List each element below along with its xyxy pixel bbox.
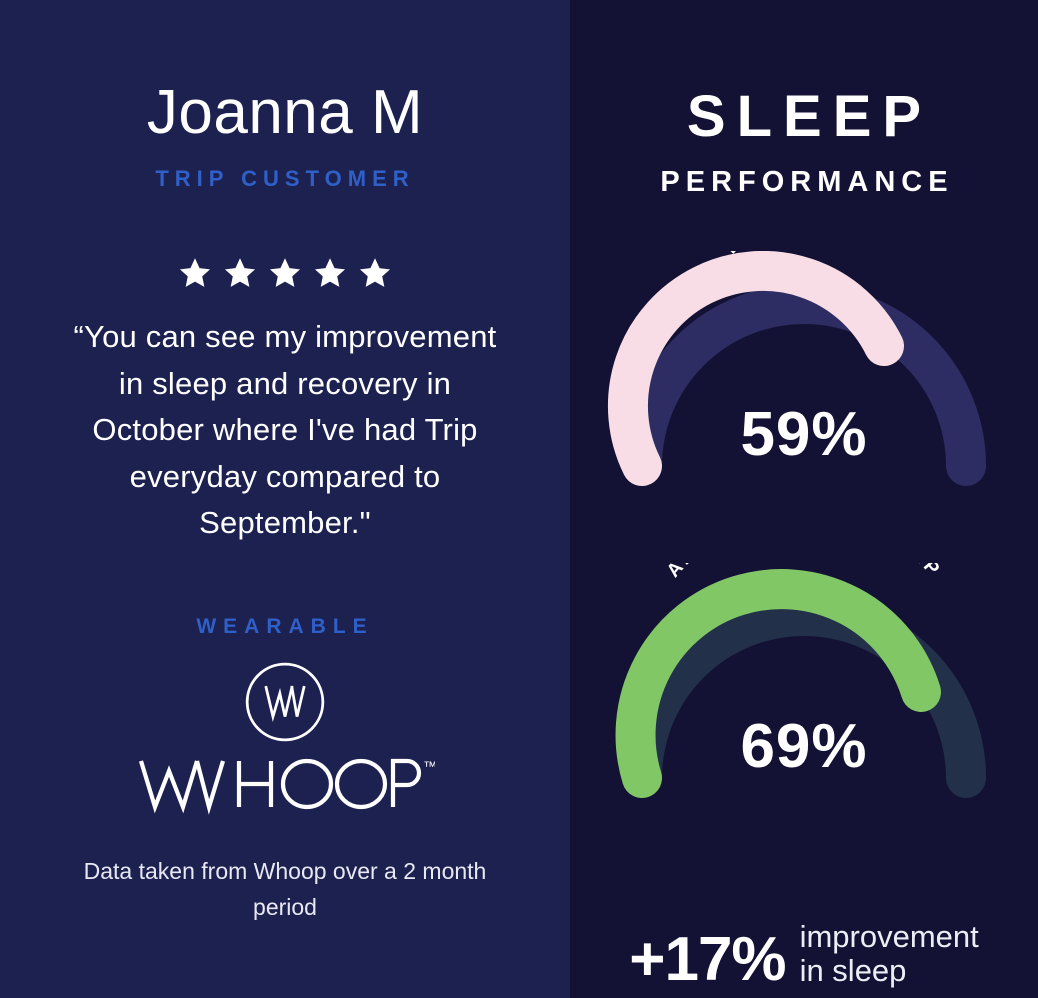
star-icon [313, 256, 347, 290]
trademark-symbol: ™ [423, 758, 435, 774]
improvement-description: improvement in sleep [800, 920, 979, 990]
improvement-delta: +17% [629, 931, 785, 990]
testimonial-quote: “You can see my improvement in sleep and… [70, 314, 500, 547]
wearable-label: WEARABLE [196, 615, 373, 639]
star-icon [268, 256, 302, 290]
improvement-summary: +17% improvement in sleep [570, 920, 1038, 990]
customer-name: Joanna M [147, 82, 423, 144]
improvement-description-line2: in sleep [800, 954, 979, 987]
testimonial-panel: Joanna M TRIP CUSTOMER “You can see my i… [0, 0, 570, 998]
improvement-description-line1: improvement [800, 920, 979, 953]
gauge-before-trip-value: 59% [594, 399, 1014, 470]
data-source-note: Data taken from Whoop over a 2 month per… [75, 853, 495, 927]
sleep-title: SLEEP [676, 88, 932, 146]
star-icon [178, 256, 212, 290]
whoop-circle-logo-icon [242, 659, 328, 745]
star-icon [358, 256, 392, 290]
gauge-before-trip: BEFORE TRIP 59% [594, 251, 1014, 501]
whoop-wordmark: ™ [135, 753, 435, 815]
customer-role-label: TRIP CUSTOMER [155, 166, 414, 192]
sleep-subtitle: PERFORMANCE [654, 166, 953, 199]
sleep-performance-panel: SLEEP PERFORMANCE BEFORE TRIP 59% [570, 0, 1038, 998]
gauge-after-trip: AFTER 1 MONTH OF TRIP 69% [594, 563, 1014, 813]
star-icon [223, 256, 257, 290]
infographic-page: Joanna M TRIP CUSTOMER “You can see my i… [0, 0, 1038, 998]
star-rating [178, 256, 392, 290]
gauge-after-trip-value: 69% [594, 711, 1014, 782]
